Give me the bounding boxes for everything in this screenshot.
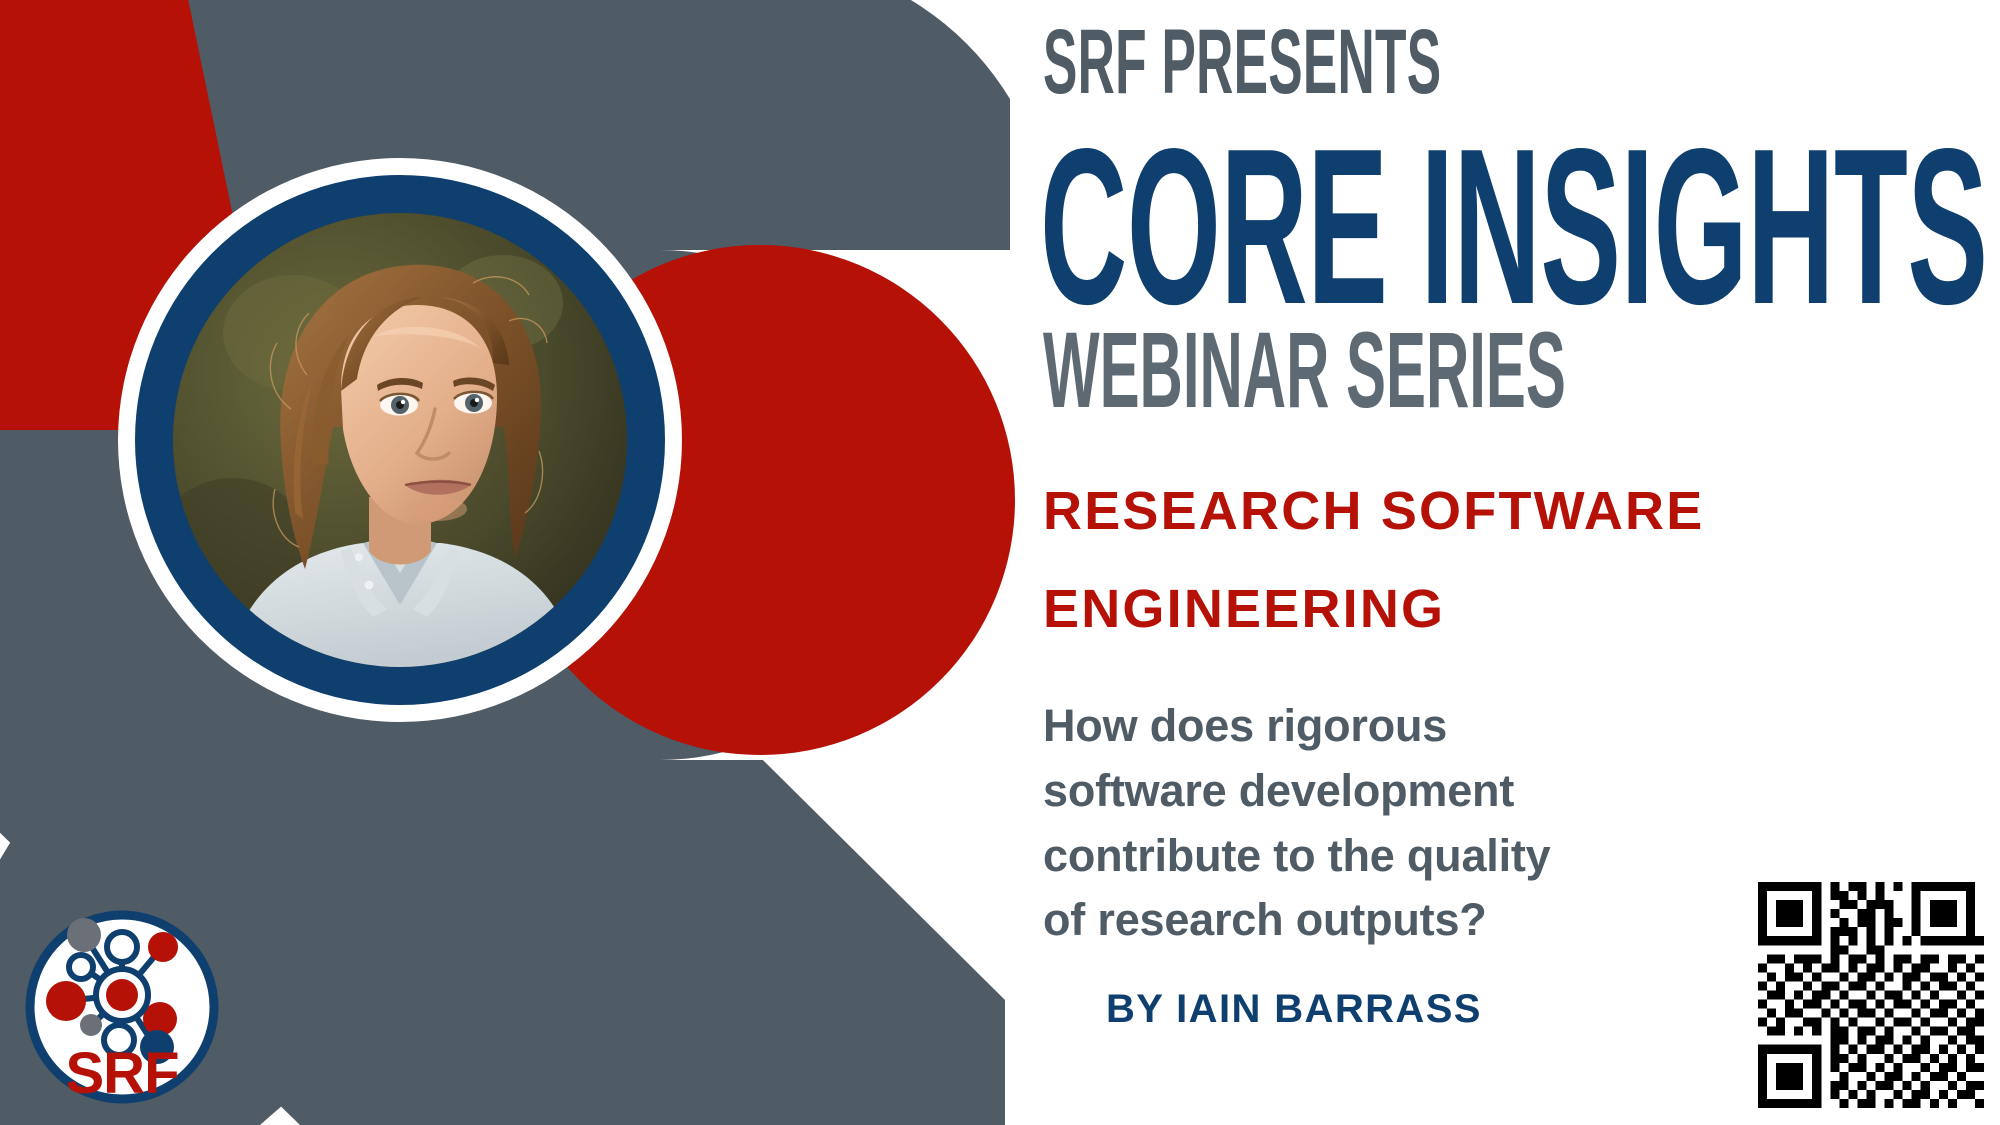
srf-wordmark: SRF — [66, 1041, 179, 1106]
qr-code-svg — [1758, 882, 1984, 1108]
headline-topic: RESEARCH SOFTWARE ENGINEERING — [1043, 462, 1803, 659]
headline-line-1: RESEARCH SOFTWARE — [1043, 462, 1803, 560]
question-line-1: How does rigorous — [1043, 694, 1743, 759]
subkicker-webinar-series: WEBINAR SERIES — [1043, 320, 1566, 419]
question-line-2: software development — [1043, 759, 1743, 824]
kicker-srf-presents: SRF PRESENTS — [1043, 20, 1441, 105]
speaker-portrait — [135, 175, 665, 705]
portrait-photo — [173, 213, 627, 667]
portrait-illustration — [173, 213, 627, 667]
srf-logo[interactable]: SRF — [22, 907, 222, 1107]
speaker-byline: BY IAIN BARRASS — [1106, 987, 1482, 1032]
question-line-4: of research outputs? — [1043, 888, 1743, 953]
qr-code[interactable] — [1758, 882, 1984, 1108]
session-question: How does rigorous software development c… — [1043, 694, 1743, 953]
page-title-core-insights: CORE INSIGHTS — [1040, 128, 1987, 328]
question-line-3: contribute to the quality — [1043, 824, 1743, 889]
srf-logo-svg: SRF — [22, 907, 222, 1107]
webinar-promo-poster: SRF SRF PRESENTS CORE INSIGHTS WEBINAR S… — [0, 0, 2000, 1125]
headline-line-2: ENGINEERING — [1043, 560, 1803, 658]
